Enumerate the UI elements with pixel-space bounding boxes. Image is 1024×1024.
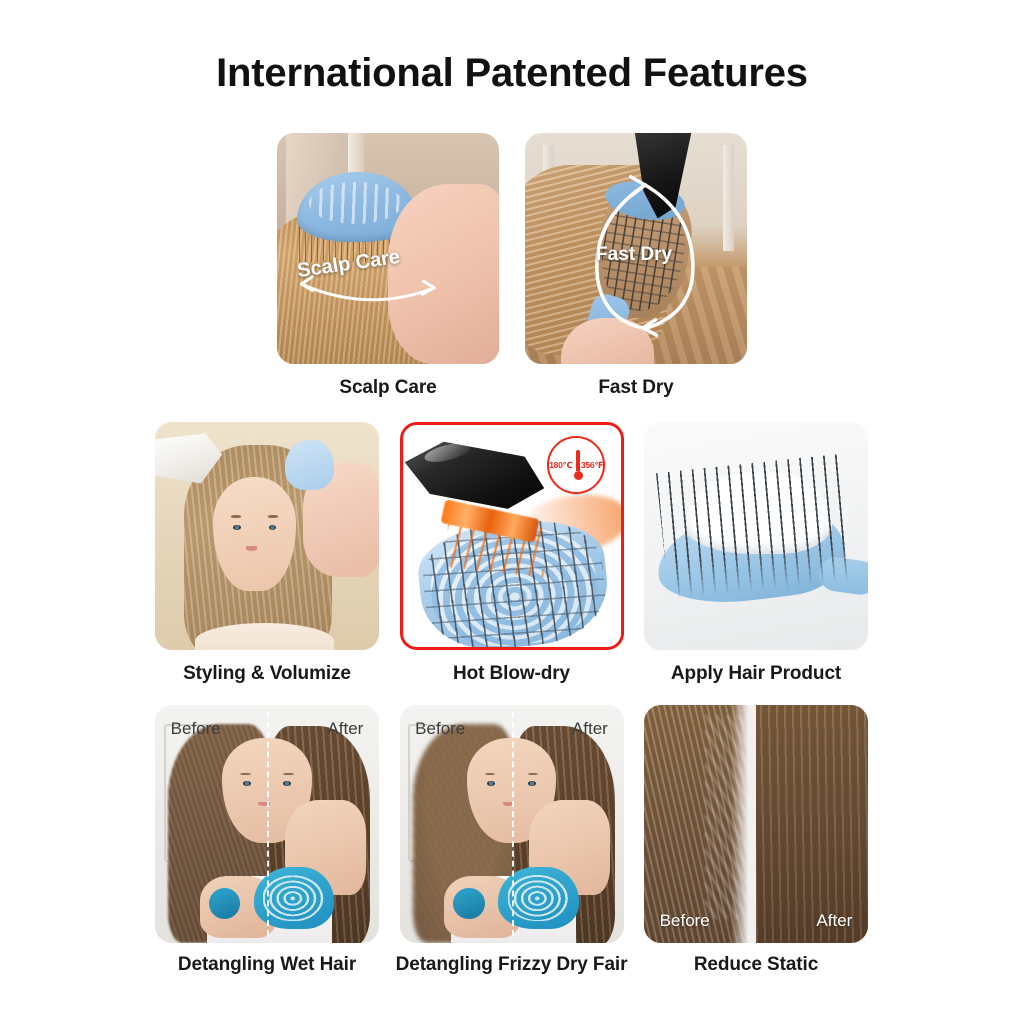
feature-row-3: Before After Detangling Wet Hair [155, 705, 868, 976]
background-gap [731, 705, 756, 943]
dryer-gloss-highlight [423, 440, 473, 466]
label-before: Before [660, 911, 710, 931]
brush-handle [453, 888, 484, 919]
temperature-fahrenheit: 356℉ [581, 460, 603, 471]
eyebrow-left [485, 773, 496, 776]
eye-left [243, 781, 251, 786]
eye-right [528, 781, 536, 786]
infographic-page: International Patented Features [0, 0, 1024, 1024]
temperature-badge: 180℃ 356℉ [547, 436, 605, 494]
feature-image-scalp-care[interactable]: Scalp Care [277, 133, 499, 364]
feature-caption-detangling-wet-hair: Detangling Wet Hair [178, 954, 356, 976]
brush-slots [309, 182, 403, 224]
thermometer-bulb [574, 471, 583, 480]
feature-cell-detangling-wet-hair[interactable]: Before After Detangling Wet Hair [155, 705, 379, 976]
brush-pins [656, 454, 856, 601]
feature-caption-apply-hair-product: Apply Hair Product [671, 663, 841, 685]
feature-image-reduce-static[interactable]: Before After [644, 705, 868, 943]
eye-right [283, 781, 291, 786]
scene-reduce-static: Before After [644, 705, 868, 943]
feature-image-styling-volumize[interactable] [155, 422, 379, 650]
temperature-celsius: 180℃ [549, 460, 572, 471]
brush-head [254, 867, 335, 929]
before-after-divider [512, 712, 514, 936]
feature-cell-fast-dry[interactable]: Fast Dry Fast Dry [525, 133, 747, 399]
scene-apply-hair-product [644, 422, 868, 650]
feature-image-apply-hair-product[interactable] [644, 422, 868, 650]
feature-cell-hot-blow-dry[interactable]: 180℃ 356℉ Hot Blow-dry [400, 422, 624, 685]
thermometer-stem [576, 450, 580, 471]
brush-head [498, 867, 579, 929]
scene-detangling-wet-hair: Before After [155, 705, 379, 943]
feature-image-hot-blow-dry[interactable]: 180℃ 356℉ [400, 422, 624, 650]
before-after-divider [267, 712, 269, 936]
background-table-leg-2 [723, 145, 734, 251]
brush-handle [209, 888, 240, 919]
label-after: After [816, 911, 852, 931]
eyebrow-left [231, 515, 241, 518]
brush-coils [263, 874, 324, 921]
label-before: Before [171, 719, 221, 739]
feature-cell-styling-volumize[interactable]: Styling & Volumize [155, 422, 379, 685]
feature-caption-styling-volumize: Styling & Volumize [183, 663, 351, 685]
feature-caption-detangling-frizzy-dry-fair: Detangling Frizzy Dry Fair [396, 954, 628, 976]
model-face [213, 477, 296, 591]
brush-head [285, 440, 334, 490]
feature-caption-hot-blow-dry: Hot Blow-dry [453, 663, 570, 685]
overlay-label-fast-dry: Fast Dry [596, 244, 672, 266]
feature-cell-scalp-care[interactable]: Scalp Care Scalp Care [277, 133, 499, 399]
eyebrow-left [240, 773, 251, 776]
feature-caption-scalp-care: Scalp Care [339, 377, 436, 399]
scene-hot-blow-dry: 180℃ 356℉ [403, 425, 621, 647]
eyebrow-right [528, 773, 539, 776]
label-before: Before [415, 719, 465, 739]
feature-image-detangling-frizzy-dry-fair[interactable]: Before After [400, 705, 624, 943]
feature-image-detangling-wet-hair[interactable]: Before After [155, 705, 379, 943]
scene-scalp-care: Scalp Care [277, 133, 499, 364]
scene-fast-dry: Fast Dry [525, 133, 747, 364]
hair-before [644, 705, 756, 943]
feature-cell-detangling-frizzy-dry-fair[interactable]: Before After Detangling Frizzy Dry Fair [396, 705, 628, 976]
thermometer-icon [574, 450, 581, 480]
feature-row-1: Scalp Care Scalp Care [277, 133, 747, 399]
feature-image-fast-dry[interactable]: Fast Dry [525, 133, 747, 364]
feature-caption-fast-dry: Fast Dry [598, 377, 673, 399]
scene-detangling-frizzy-dry-fair: Before After [400, 705, 624, 943]
feature-cell-reduce-static[interactable]: Before After Reduce Static [644, 705, 868, 976]
hair-after [756, 705, 868, 943]
eyebrow-right [268, 515, 278, 518]
eye-right [269, 525, 276, 530]
brush-coils [508, 874, 569, 921]
label-after: After [327, 719, 363, 739]
feature-row-2: Styling & Volumize 180℃ [155, 422, 868, 685]
scene-styling-volumize [155, 422, 379, 650]
eyebrow-right [283, 773, 294, 776]
feature-caption-reduce-static: Reduce Static [694, 954, 818, 976]
mouth [246, 546, 257, 551]
feature-cell-apply-hair-product[interactable]: Apply Hair Product [644, 422, 868, 685]
label-after: After [572, 719, 608, 739]
eye-left [233, 525, 240, 530]
eye-left [487, 781, 495, 786]
page-title: International Patented Features [0, 50, 1024, 96]
